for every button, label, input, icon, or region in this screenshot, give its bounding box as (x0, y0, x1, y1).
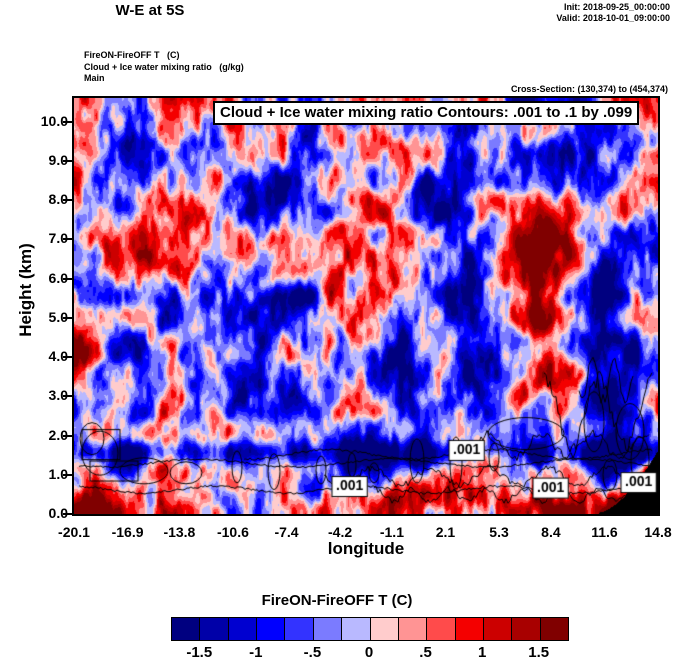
colorbar-cell (257, 618, 285, 640)
colorbar-cell (172, 618, 200, 640)
y-tick-label: 1.0 (24, 466, 68, 482)
y-tick-mark (63, 513, 72, 515)
y-tick-mark (63, 160, 72, 162)
y-tick-label: 10.0 (24, 113, 68, 129)
colorbar-cell (456, 618, 484, 640)
x-tick-label: -13.8 (149, 524, 209, 540)
y-tick-label: 8.0 (24, 191, 68, 207)
y-tick-label: 5.0 (24, 309, 68, 325)
y-tick-mark (63, 317, 72, 319)
colorbar-tick-labels: -1.5-1-.50.511.5 (171, 644, 567, 666)
y-axis-ticks: 0.01.02.03.04.05.06.07.08.09.010.0 (18, 96, 68, 516)
colorbar-cell (342, 618, 370, 640)
colorbar-tick-label: 1.5 (514, 644, 564, 661)
colorbar-cell (399, 618, 427, 640)
colorbar-tick-label: 1 (457, 644, 507, 661)
colorbar-tick-label: -.5 (287, 644, 337, 661)
x-tick-label: 8.4 (521, 524, 581, 540)
y-tick-mark (63, 356, 72, 358)
init-valid-block: Init: 2018-09-25_00:00:00 Valid: 2018-10… (556, 2, 670, 24)
y-tick-label: 4.0 (24, 348, 68, 364)
colorbar: FireON-FireOFF T (C) -1.5-1-.50.511.5 (0, 592, 674, 615)
y-tick-mark (63, 278, 72, 280)
colorbar-cell (229, 618, 257, 640)
x-tick-label: 11.6 (574, 524, 634, 540)
colorbar-cell (371, 618, 399, 640)
valid-time-label: Valid: 2018-10-01_09:00:00 (556, 13, 670, 24)
field-description-block: FireON-FireOFF T (C) Cloud + Ice water m… (84, 50, 244, 85)
init-time-label: Init: 2018-09-25_00:00:00 (556, 2, 670, 13)
colorbar-strip (171, 617, 569, 641)
y-tick-mark (63, 199, 72, 201)
y-tick-mark (63, 238, 72, 240)
plot-area: Cloud + Ice water mixing ratio Contours:… (72, 96, 660, 516)
colorbar-tick-label: 0 (344, 644, 394, 661)
y-tick-label: 9.0 (24, 152, 68, 168)
x-tick-label: -20.1 (44, 524, 104, 540)
x-tick-label: -10.6 (203, 524, 263, 540)
y-tick-label: 3.0 (24, 387, 68, 403)
colorbar-cell (200, 618, 228, 640)
x-axis-title: longitude (72, 539, 660, 559)
colorbar-title: FireON-FireOFF T (C) (0, 592, 674, 609)
y-tick-mark (63, 395, 72, 397)
x-tick-label: 2.1 (415, 524, 475, 540)
colorbar-cell (314, 618, 342, 640)
y-tick-mark (63, 474, 72, 476)
y-tick-mark (63, 435, 72, 437)
y-tick-mark (63, 121, 72, 123)
colorbar-cell (484, 618, 512, 640)
x-tick-label: -1.1 (362, 524, 422, 540)
y-tick-label: 6.0 (24, 270, 68, 286)
colorbar-tick-label: -1 (231, 644, 281, 661)
cross-section-label: Cross-Section: (130,374) to (454,374) (511, 84, 668, 94)
plot-inner-title: Cloud + Ice water mixing ratio Contours:… (213, 101, 639, 125)
y-tick-label: 2.0 (24, 427, 68, 443)
x-tick-label: -7.4 (257, 524, 317, 540)
x-tick-label: 14.8 (628, 524, 674, 540)
mixing-ratio-contours (74, 98, 658, 514)
y-tick-label: 0.0 (24, 505, 68, 521)
x-axis-ticks: -20.1-16.9-13.8-10.6-7.4-4.2-1.12.15.38.… (72, 518, 660, 540)
colorbar-tick-label: .5 (401, 644, 451, 661)
colorbar-tick-label: -1.5 (174, 644, 224, 661)
colorbar-cell (512, 618, 540, 640)
page-title: W-E at 5S (0, 2, 300, 19)
colorbar-cell (427, 618, 455, 640)
y-tick-label: 7.0 (24, 230, 68, 246)
colorbar-cell (541, 618, 568, 640)
colorbar-cell (285, 618, 313, 640)
